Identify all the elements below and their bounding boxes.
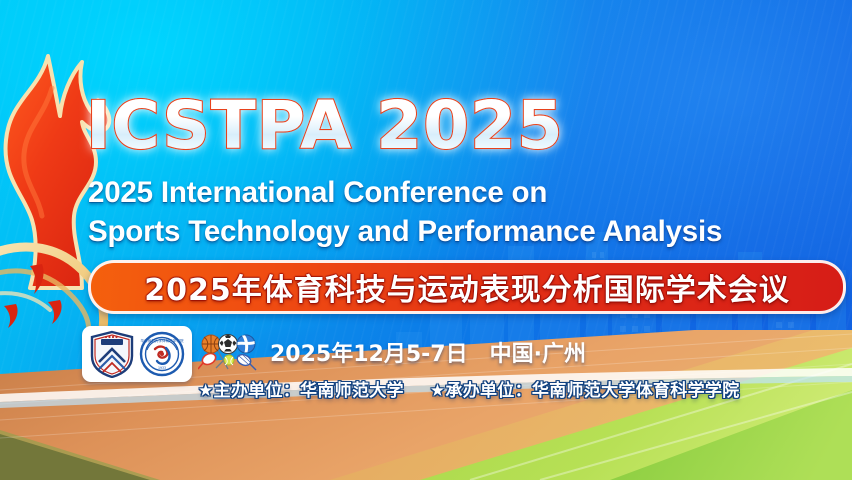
subtitle: 2025 International Conference on Sports …	[88, 174, 848, 252]
cohost-star-icon: ★	[430, 381, 446, 401]
event-date: 2025年12月5-7日	[270, 342, 468, 367]
organizers-row: ★主办单位：华南师范大学★承办单位：华南师范大学体育科学学院	[198, 376, 740, 401]
content-layer: ICSTPA 2025 2025 International Conferenc…	[0, 0, 852, 480]
svg-text:华南师范大学体育科学学院: 华南师范大学体育科学学院	[140, 338, 184, 343]
event-location: 中国·广州	[490, 342, 586, 367]
title-text: ICSTPA 2025	[86, 87, 564, 164]
subtitle-line-1: 2025 International Conference on	[88, 174, 848, 213]
svg-text:1933: 1933	[158, 366, 166, 370]
host-star-icon: ★	[198, 381, 214, 401]
subtitle-line-2: Sports Technology and Performance Analys…	[88, 213, 848, 252]
chinese-title-text: 2025年体育科技与运动表现分析国际学术会议	[144, 265, 790, 309]
event-date-location: 2025年12月5-7日中国·广州	[270, 336, 586, 368]
conference-banner: ICSTPA 2025 2025 International Conferenc…	[0, 0, 852, 480]
university-crest-icon	[89, 330, 135, 378]
school-seal-icon: 华南师范大学体育科学学院 1933	[139, 330, 185, 378]
cohost-organizer: 承办单位：华南师范大学体育科学学院	[445, 381, 739, 401]
page-title: ICSTPA 2025	[86, 88, 556, 176]
chinese-title-banner: 2025年体育科技与运动表现分析国际学术会议	[88, 260, 846, 314]
sports-equipment-icons	[198, 332, 260, 372]
event-info-row: 2025年12月5-7日中国·广州	[198, 332, 586, 372]
title-artwork: ICSTPA 2025	[86, 88, 556, 166]
organizer-logos: 华南师范大学体育科学学院 1933	[82, 326, 192, 382]
host-organizer: 主办单位：华南师范大学	[214, 381, 404, 401]
